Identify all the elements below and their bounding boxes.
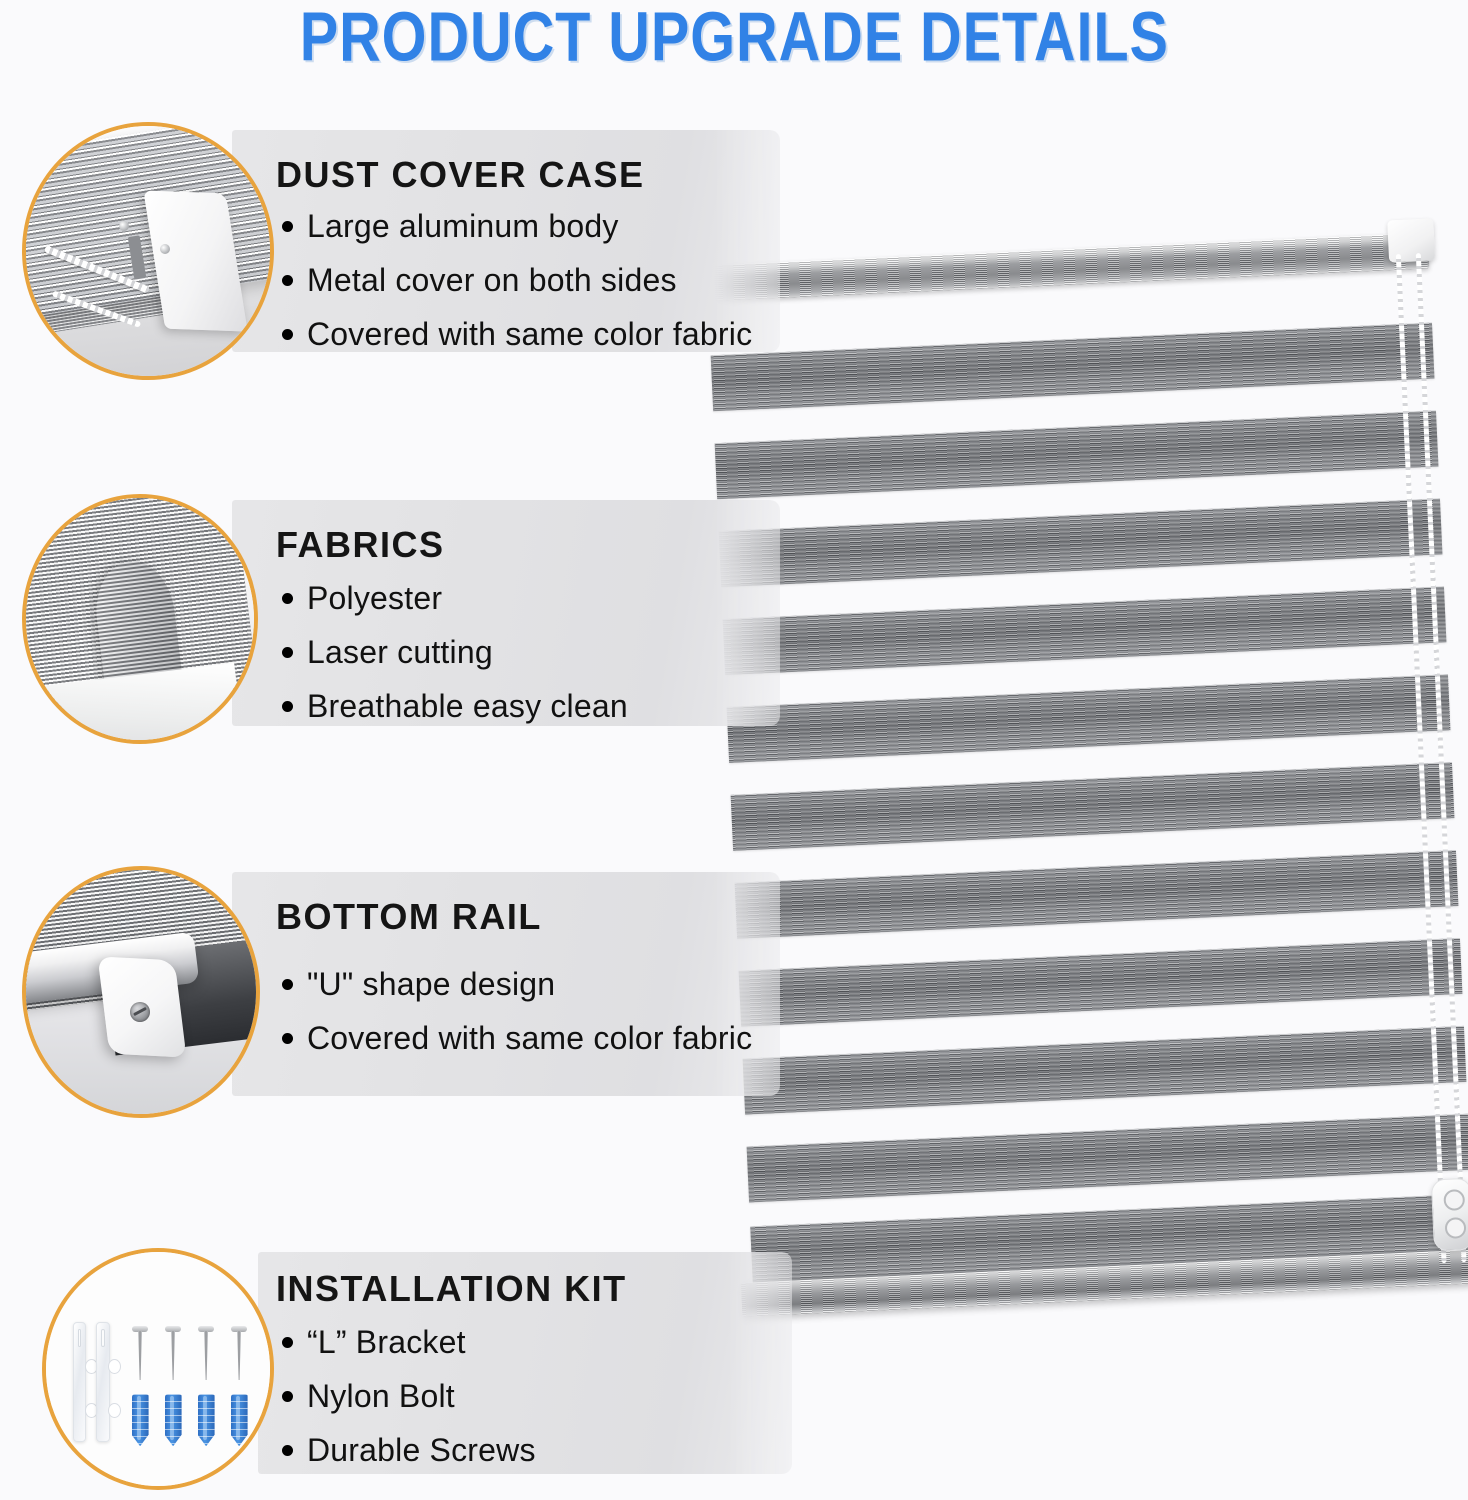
zebra-slat [743,1026,1467,1115]
product-image-zebra-blind [712,225,1468,1335]
zebra-slat [739,938,1463,1027]
screw-icon [235,1326,243,1380]
zebra-slat [715,411,1439,500]
screw-icon [202,1326,210,1380]
zebra-slat [723,586,1447,675]
nylon-anchor-icon [165,1394,182,1446]
list-item: Durable Screws [282,1432,536,1469]
screw-icon [136,1326,144,1380]
nylon-anchor-icon [198,1394,215,1446]
nylon-anchor-icon [132,1394,149,1446]
bullet-dot-icon [282,1391,293,1402]
bullet-text: “L” Bracket [307,1324,466,1361]
installation-kit-photo [42,1248,274,1490]
bullet-text: Nylon Bolt [307,1378,455,1415]
list-item: Nylon Bolt [282,1378,536,1415]
zebra-slat [747,1114,1468,1203]
l-bracket-icon [73,1322,86,1442]
list-item: “L” Bracket [282,1324,536,1361]
chain-tensioner-icon [1431,1178,1468,1252]
installation-kit-bullets: “L” Bracket Nylon Bolt Durable Screws [282,1324,536,1469]
screw-icon [169,1326,177,1380]
zebra-slat [731,762,1455,851]
end-cap-icon [1387,218,1435,262]
section-installation-kit: INSTALLATION KIT “L” Bracket Nylon Bolt … [0,0,820,1500]
bullet-dot-icon [282,1337,293,1348]
bullet-dot-icon [282,1445,293,1456]
zebra-slat [719,498,1443,587]
installation-kit-title: INSTALLATION KIT [276,1268,627,1310]
l-bracket-icon [96,1322,109,1442]
zebra-slat [727,674,1451,763]
zebra-slat [735,850,1459,939]
nylon-anchor-icon [231,1394,248,1446]
bullet-text: Durable Screws [307,1432,536,1469]
